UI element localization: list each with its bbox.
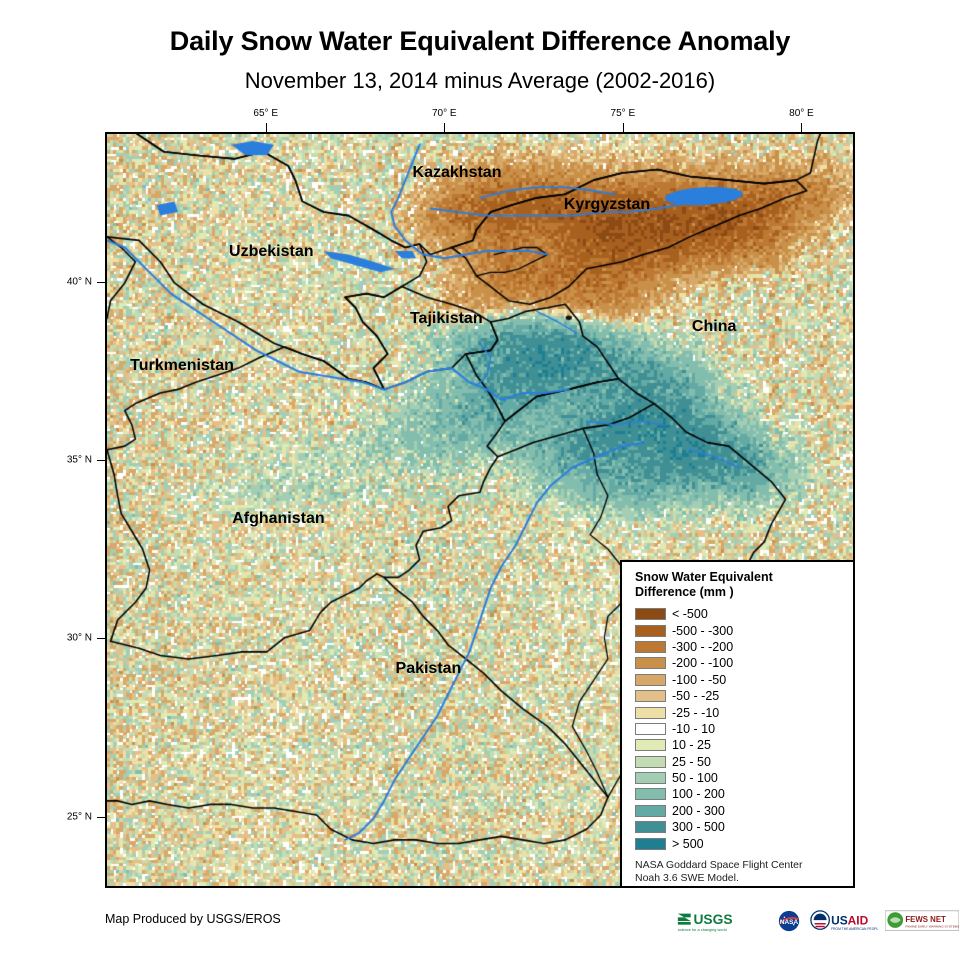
legend-swatch [635, 707, 666, 719]
legend-swatch [635, 674, 666, 686]
lon-tick [623, 123, 624, 132]
legend-row: 300 - 500 [635, 819, 853, 835]
legend-panel: Snow Water Equivalent Difference (mm ) <… [620, 560, 855, 888]
legend-label: 10 - 25 [672, 738, 711, 752]
legend-swatch [635, 641, 666, 653]
legend-row: -10 - 10 [635, 721, 853, 737]
legend-label: > 500 [672, 837, 704, 851]
svg-text:FAMINE EARLY WARNING SYSTEMS N: FAMINE EARLY WARNING SYSTEMS NETWORK [905, 924, 959, 928]
logo-strip: USGS science for a changing world NASA U… [676, 907, 959, 934]
legend-label: 300 - 500 [672, 820, 725, 834]
legend-label: -25 - -10 [672, 706, 719, 720]
legend-title-line1: Snow Water Equivalent [635, 570, 830, 585]
legend-label: < -500 [672, 607, 708, 621]
fewsnet-logo: FEWS NET FAMINE EARLY WARNING SYSTEMS NE… [885, 909, 959, 933]
page-subtitle: November 13, 2014 minus Average (2002-20… [0, 68, 960, 94]
svg-text:FEWS NET: FEWS NET [905, 914, 946, 923]
legend-row: < -500 [635, 606, 853, 622]
legend-credit: NASA Goddard Space Flight Center Noah 3.… [635, 859, 853, 885]
legend-label: 50 - 100 [672, 771, 718, 785]
legend-swatch [635, 625, 666, 637]
lon-tick-label: 80° E [789, 108, 814, 119]
legend-credit-line2: Noah 3.6 SWE Model. [635, 872, 853, 885]
legend-swatch [635, 772, 666, 784]
legend-row: -200 - -100 [635, 655, 853, 671]
map-page: Daily Snow Water Equivalent Difference A… [0, 0, 960, 960]
svg-text:FROM THE AMERICAN PEOPLE: FROM THE AMERICAN PEOPLE [831, 927, 878, 931]
legend-swatch [635, 756, 666, 768]
legend-row: 10 - 25 [635, 737, 853, 753]
legend-credit-line1: NASA Goddard Space Flight Center [635, 859, 853, 872]
nasa-logo: NASA [775, 909, 803, 933]
lon-tick [266, 123, 267, 132]
lat-tick-label: 35° N [67, 455, 92, 466]
lat-tick-label: 25° N [67, 811, 92, 822]
legend-row: -500 - -300 [635, 622, 853, 638]
legend-label: 25 - 50 [672, 755, 711, 769]
lon-tick [444, 123, 445, 132]
legend-row: -300 - -200 [635, 639, 853, 655]
legend-swatch [635, 838, 666, 850]
legend-row: -50 - -25 [635, 688, 853, 704]
lon-tick-label: 65° E [253, 108, 278, 119]
footer-credit: Map Produced by USGS/EROS [105, 912, 281, 926]
legend-swatch [635, 821, 666, 833]
legend-swatch [635, 690, 666, 702]
page-title: Daily Snow Water Equivalent Difference A… [0, 26, 960, 57]
legend-row: 50 - 100 [635, 770, 853, 786]
lon-tick-label: 75° E [611, 108, 636, 119]
legend-row: -25 - -10 [635, 704, 853, 720]
svg-text:science for a changing world: science for a changing world [678, 928, 727, 932]
legend-swatch [635, 608, 666, 620]
legend-row: 100 - 200 [635, 786, 853, 802]
legend-swatch [635, 657, 666, 669]
legend-label: -50 - -25 [672, 689, 719, 703]
lat-tick-label: 30° N [67, 633, 92, 644]
legend-title-line2: Difference (mm ) [635, 585, 830, 600]
usgs-logo: USGS science for a changing world [676, 909, 768, 933]
legend-row: 25 - 50 [635, 754, 853, 770]
svg-text:USGS: USGS [693, 911, 732, 926]
legend-label: 200 - 300 [672, 804, 725, 818]
lon-tick [801, 123, 802, 132]
legend-swatch [635, 788, 666, 800]
usaid-logo: US AID FROM THE AMERICAN PEOPLE [810, 909, 878, 933]
legend-label: -100 - -50 [672, 673, 726, 687]
lon-tick-label: 70° E [432, 108, 457, 119]
legend-swatch [635, 723, 666, 735]
legend-row: 200 - 300 [635, 803, 853, 819]
lat-tick-label: 40° N [67, 276, 92, 287]
legend-swatch [635, 739, 666, 751]
legend-swatch [635, 805, 666, 817]
legend-label: -10 - 10 [672, 722, 715, 736]
legend-label: -200 - -100 [672, 656, 733, 670]
svg-text:AID: AID [848, 913, 869, 927]
legend-class-list: < -500-500 - -300-300 - -200-200 - -100-… [635, 606, 853, 852]
svg-text:NASA: NASA [780, 918, 799, 925]
legend-title: Snow Water Equivalent Difference (mm ) [635, 570, 830, 600]
legend-row: > 500 [635, 835, 853, 851]
legend-label: -500 - -300 [672, 624, 733, 638]
svg-text:US: US [831, 913, 848, 927]
legend-label: 100 - 200 [672, 787, 725, 801]
legend-row: -100 - -50 [635, 672, 853, 688]
legend-label: -300 - -200 [672, 640, 733, 654]
